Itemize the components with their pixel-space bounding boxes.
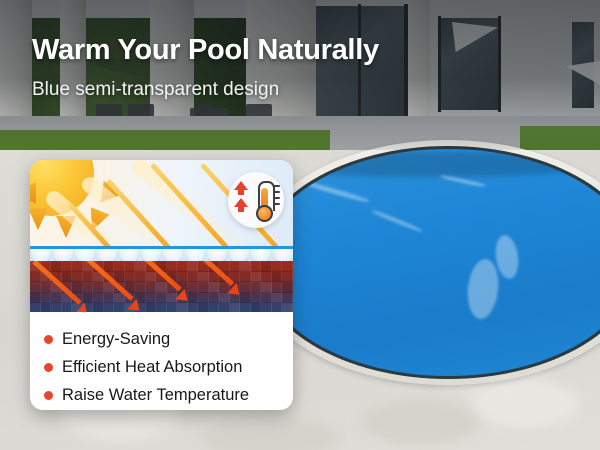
temperature-rise-badge bbox=[228, 172, 284, 228]
heating-diagram bbox=[30, 160, 293, 312]
sun-ray-petal bbox=[30, 182, 36, 204]
page-title: Warm Your Pool Naturally bbox=[32, 36, 379, 65]
list-item: Raise Water Temperature bbox=[44, 381, 293, 409]
thermometer-bulb bbox=[256, 205, 273, 222]
bullet-dot-icon bbox=[44, 391, 53, 400]
feature-list: Energy-Saving Efficient Heat Absorption … bbox=[30, 312, 293, 409]
thermometer-tick bbox=[273, 191, 280, 193]
list-item: Energy-Saving bbox=[44, 325, 293, 353]
bullet-dot-icon bbox=[44, 363, 53, 372]
thermometer-tick bbox=[273, 185, 280, 187]
thermometer-tick bbox=[273, 197, 280, 199]
feature-label: Raise Water Temperature bbox=[62, 387, 249, 404]
feature-label: Efficient Heat Absorption bbox=[62, 359, 242, 376]
feature-label: Energy-Saving bbox=[62, 331, 170, 348]
text-scrim bbox=[0, 0, 600, 150]
sun-ray-petal bbox=[30, 208, 48, 230]
thermometer-tick bbox=[273, 203, 280, 205]
bullet-dot-icon bbox=[44, 335, 53, 344]
rising-arrow-icon bbox=[234, 181, 248, 190]
feature-card: Energy-Saving Efficient Heat Absorption … bbox=[30, 160, 293, 410]
pool-water-layer bbox=[30, 261, 293, 312]
list-item: Efficient Heat Absorption bbox=[44, 353, 293, 381]
swimming-pool bbox=[248, 140, 600, 385]
promo-banner: Warm Your Pool Naturally Blue semi-trans… bbox=[0, 0, 600, 450]
page-subtitle: Blue semi-transparent design bbox=[32, 80, 279, 99]
rising-arrow-icon bbox=[234, 198, 248, 207]
